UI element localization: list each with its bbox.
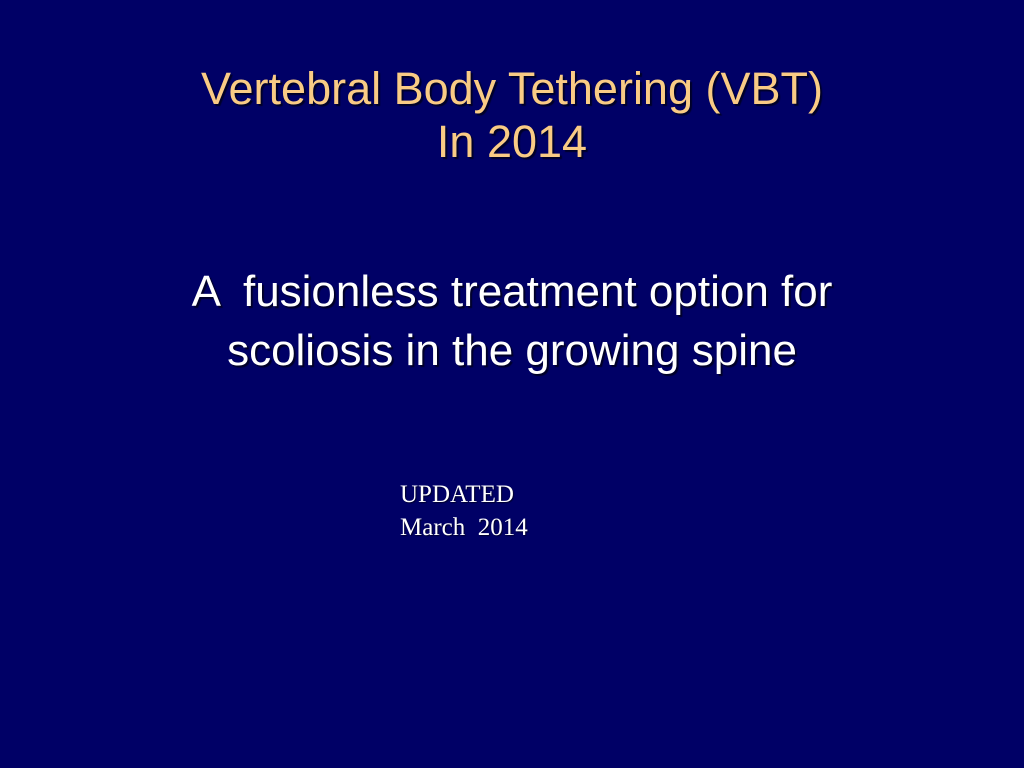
slide-title-line-2: In 2014 <box>0 115 1024 168</box>
slide-subtitle-line-1: A fusionless treatment option for <box>0 262 1024 321</box>
updated-label: UPDATED <box>400 478 820 511</box>
slide-subtitle-line-2: scoliosis in the growing spine <box>0 321 1024 380</box>
slide-title-line-1: Vertebral Body Tethering (VBT) <box>0 62 1024 115</box>
presentation-slide: Vertebral Body Tethering (VBT) In 2014 A… <box>0 0 1024 768</box>
slide-footer: UPDATED March 2014 <box>400 478 820 544</box>
slide-subtitle: A fusionless treatment option for scolio… <box>0 262 1024 380</box>
slide-title: Vertebral Body Tethering (VBT) In 2014 <box>0 62 1024 168</box>
updated-date: March 2014 <box>400 511 820 544</box>
